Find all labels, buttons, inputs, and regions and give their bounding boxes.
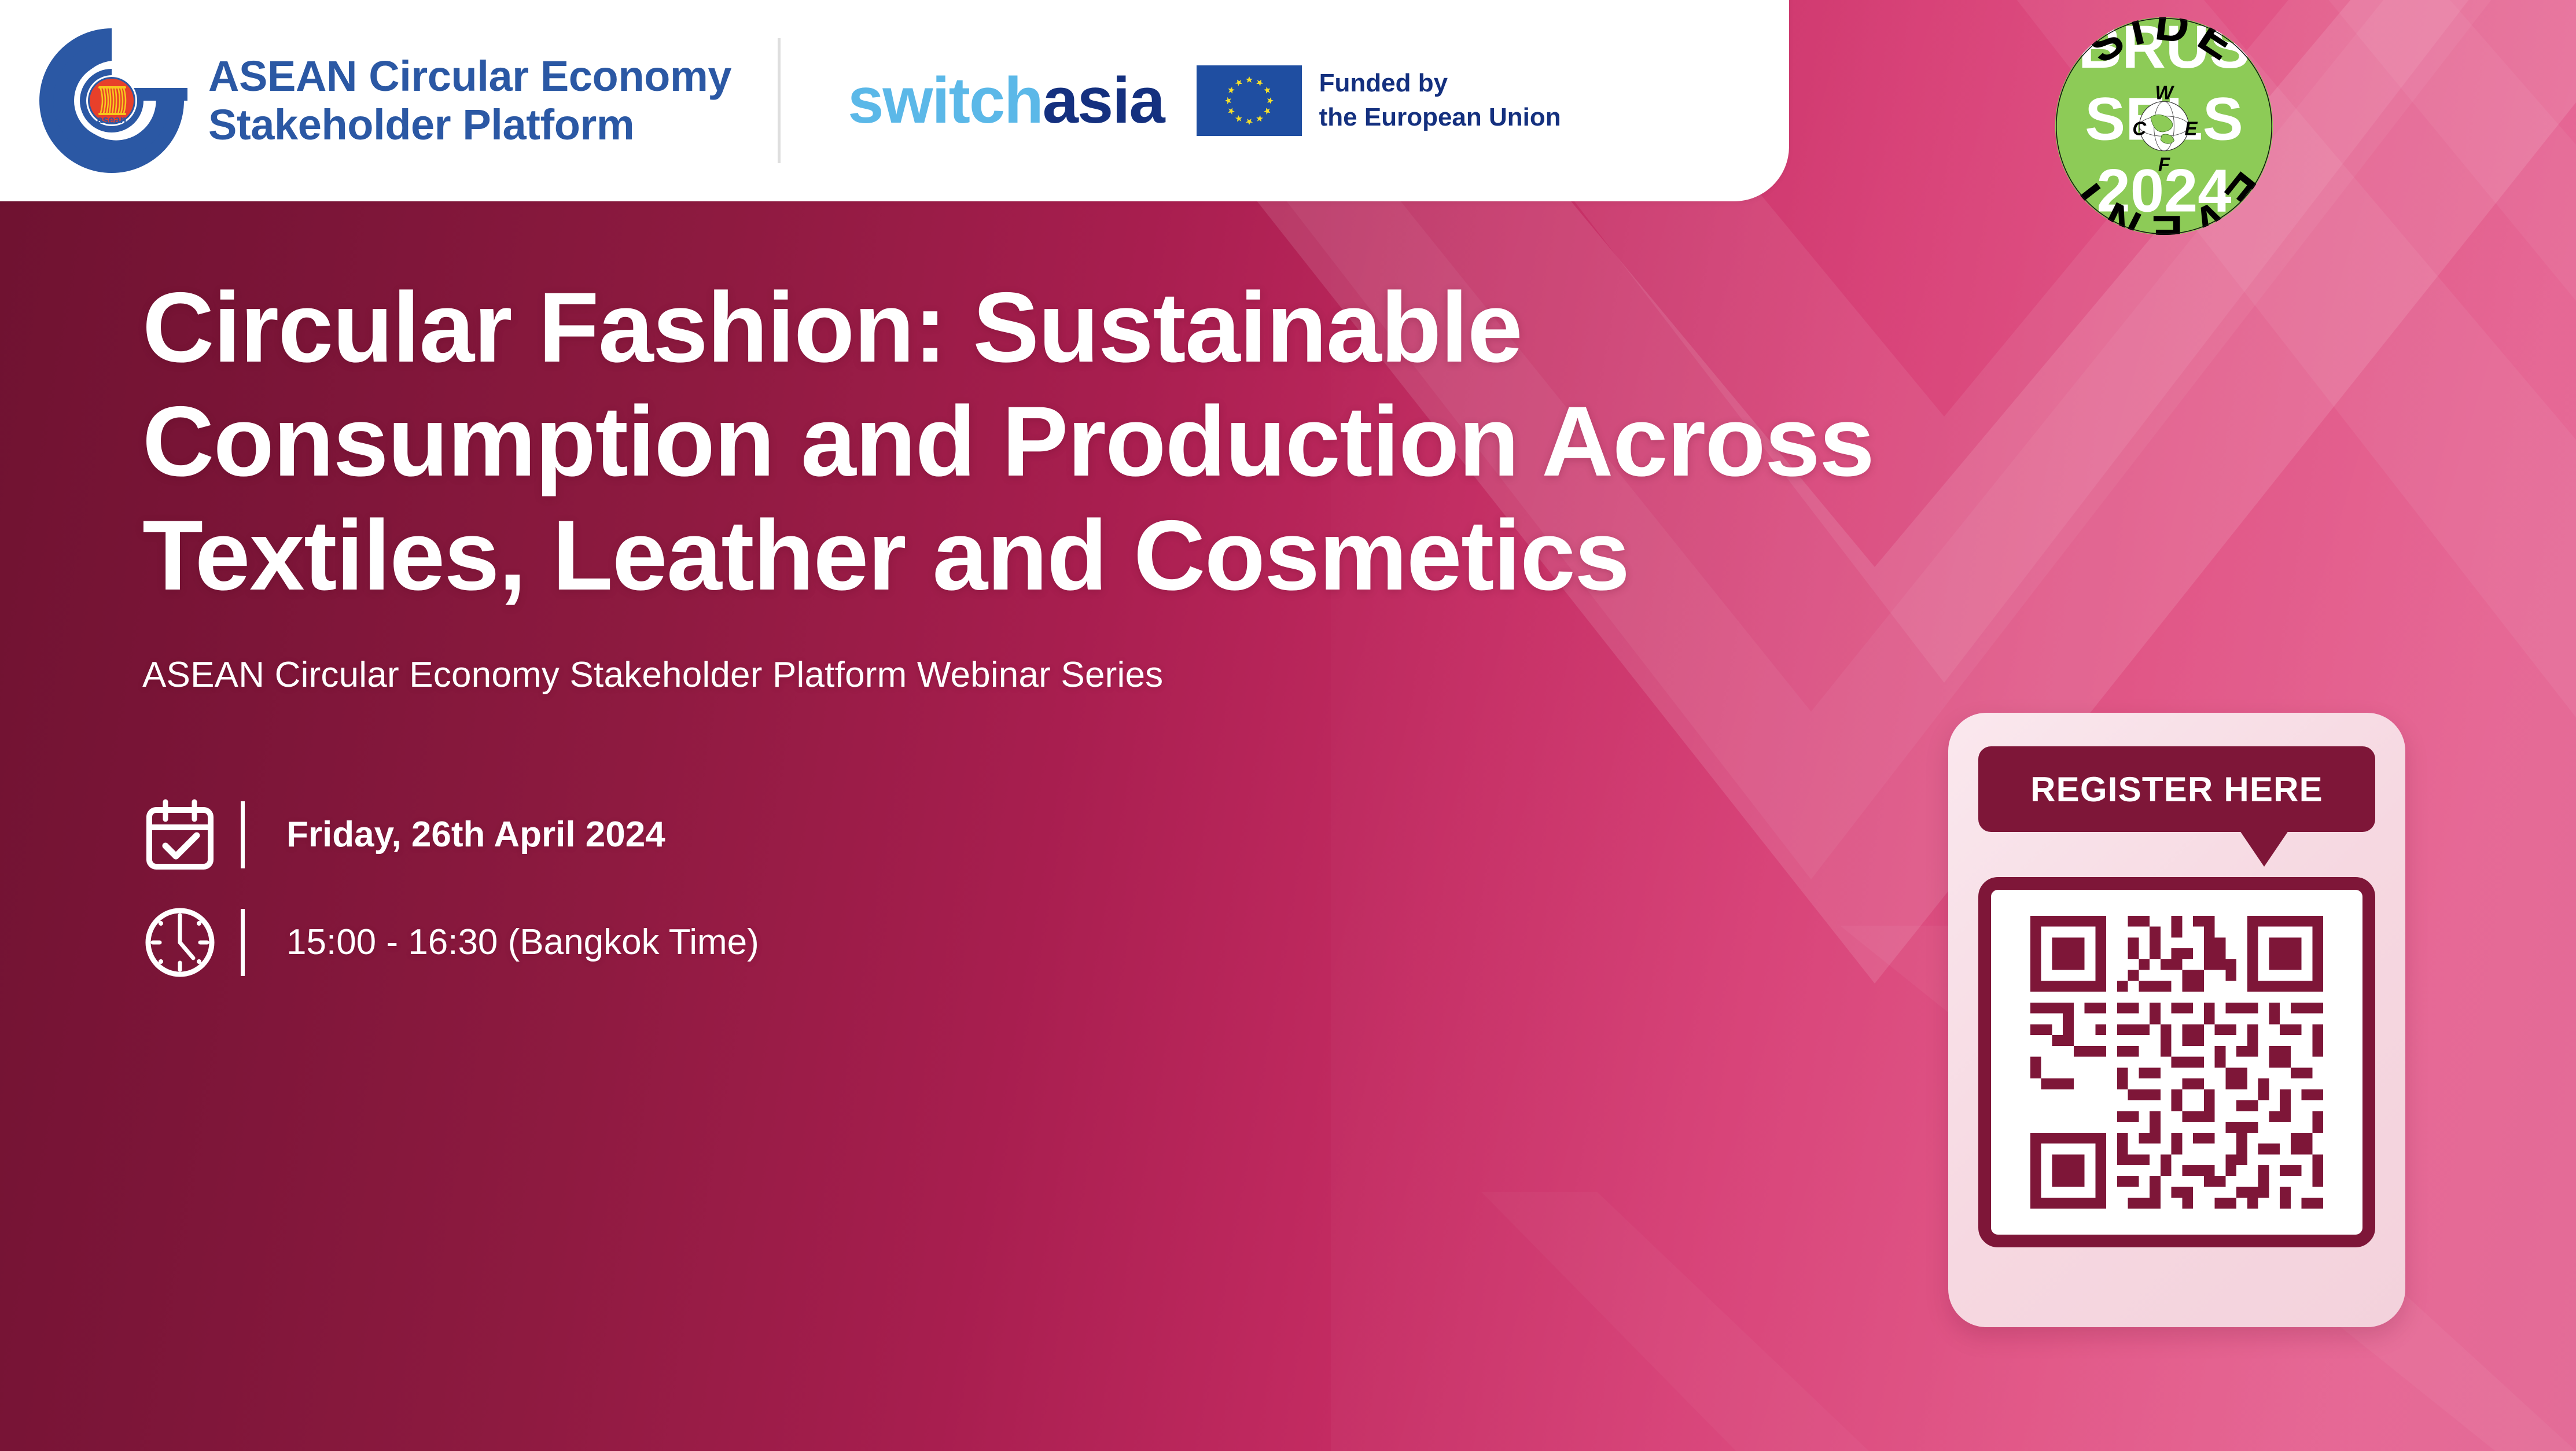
calendar-check-icon	[142, 797, 241, 872]
event-time-value: 15:00 - 16:30 (Bangkok Time)	[286, 922, 759, 963]
event-detail-time: 15:00 - 16:30 (Bangkok Time)	[142, 889, 1878, 996]
eu-funding-text: Funded by the European Union	[1319, 67, 1561, 134]
event-banner: asean ASEAN Circular Economy Stakeholder…	[0, 0, 2576, 1451]
bubble-tail	[2240, 831, 2288, 867]
event-detail-date: Friday, 26th April 2024	[142, 781, 1878, 889]
switchasia-part1: sw	[848, 64, 932, 137]
eu-funding-line1: Funded by	[1319, 67, 1561, 101]
clock-icon	[142, 905, 241, 980]
header-bar: asean ASEAN Circular Economy Stakeholder…	[0, 0, 1789, 201]
asean-logo-line1: ASEAN Circular Economy	[208, 52, 731, 101]
page-subtitle: ASEAN Circular Economy Stakeholder Platf…	[142, 654, 1878, 695]
badge-letter-w: W	[2155, 82, 2174, 103]
detail-separator	[241, 909, 245, 976]
switchasia-part1b: itch	[932, 64, 1043, 137]
asean-circular-economy-logo-icon: asean	[36, 25, 187, 176]
page-title: Circular Fashion: Sustainable Consumptio…	[142, 271, 1878, 613]
qr-code-frame[interactable]	[1978, 877, 2375, 1247]
asean-logo-lockup[interactable]: asean ASEAN Circular Economy Stakeholder…	[36, 25, 731, 176]
register-here-label: REGISTER HERE	[2030, 769, 2323, 809]
switchasia-eu-lockup[interactable]: switchasia	[848, 65, 1561, 136]
header-content: asean ASEAN Circular Economy Stakeholder…	[0, 0, 1789, 201]
badge-letter-e: E	[2185, 118, 2198, 139]
qr-code-icon	[2006, 905, 2347, 1220]
register-qr-card[interactable]: REGISTER HERE	[1948, 713, 2405, 1327]
switchasia-part2: asia	[1043, 64, 1164, 137]
main-content: Circular Fashion: Sustainable Consumptio…	[142, 271, 1878, 996]
register-here-button[interactable]: REGISTER HERE	[1978, 746, 2375, 832]
asean-logo-text: ASEAN Circular Economy Stakeholder Platf…	[208, 52, 731, 149]
badge-letter-c: C	[2132, 118, 2147, 139]
event-details: Friday, 26th April 2024	[142, 781, 1878, 996]
asean-logo-line2: Stakeholder Platform	[208, 101, 731, 149]
eu-funding-block: Funded by the European Union	[1197, 65, 1561, 136]
header-divider	[778, 38, 781, 163]
eu-funding-line2: the European Union	[1319, 101, 1561, 135]
badge-letter-f: F	[2158, 154, 2170, 175]
side-event-badge[interactable]: BRUS SELS 2024 W C E F	[2052, 14, 2276, 238]
switchasia-logo-icon: switchasia	[848, 68, 1164, 133]
event-date-value: Friday, 26th April 2024	[286, 814, 665, 855]
detail-separator	[241, 801, 245, 868]
svg-text:asean: asean	[97, 114, 126, 126]
european-union-flag-icon	[1197, 65, 1302, 136]
